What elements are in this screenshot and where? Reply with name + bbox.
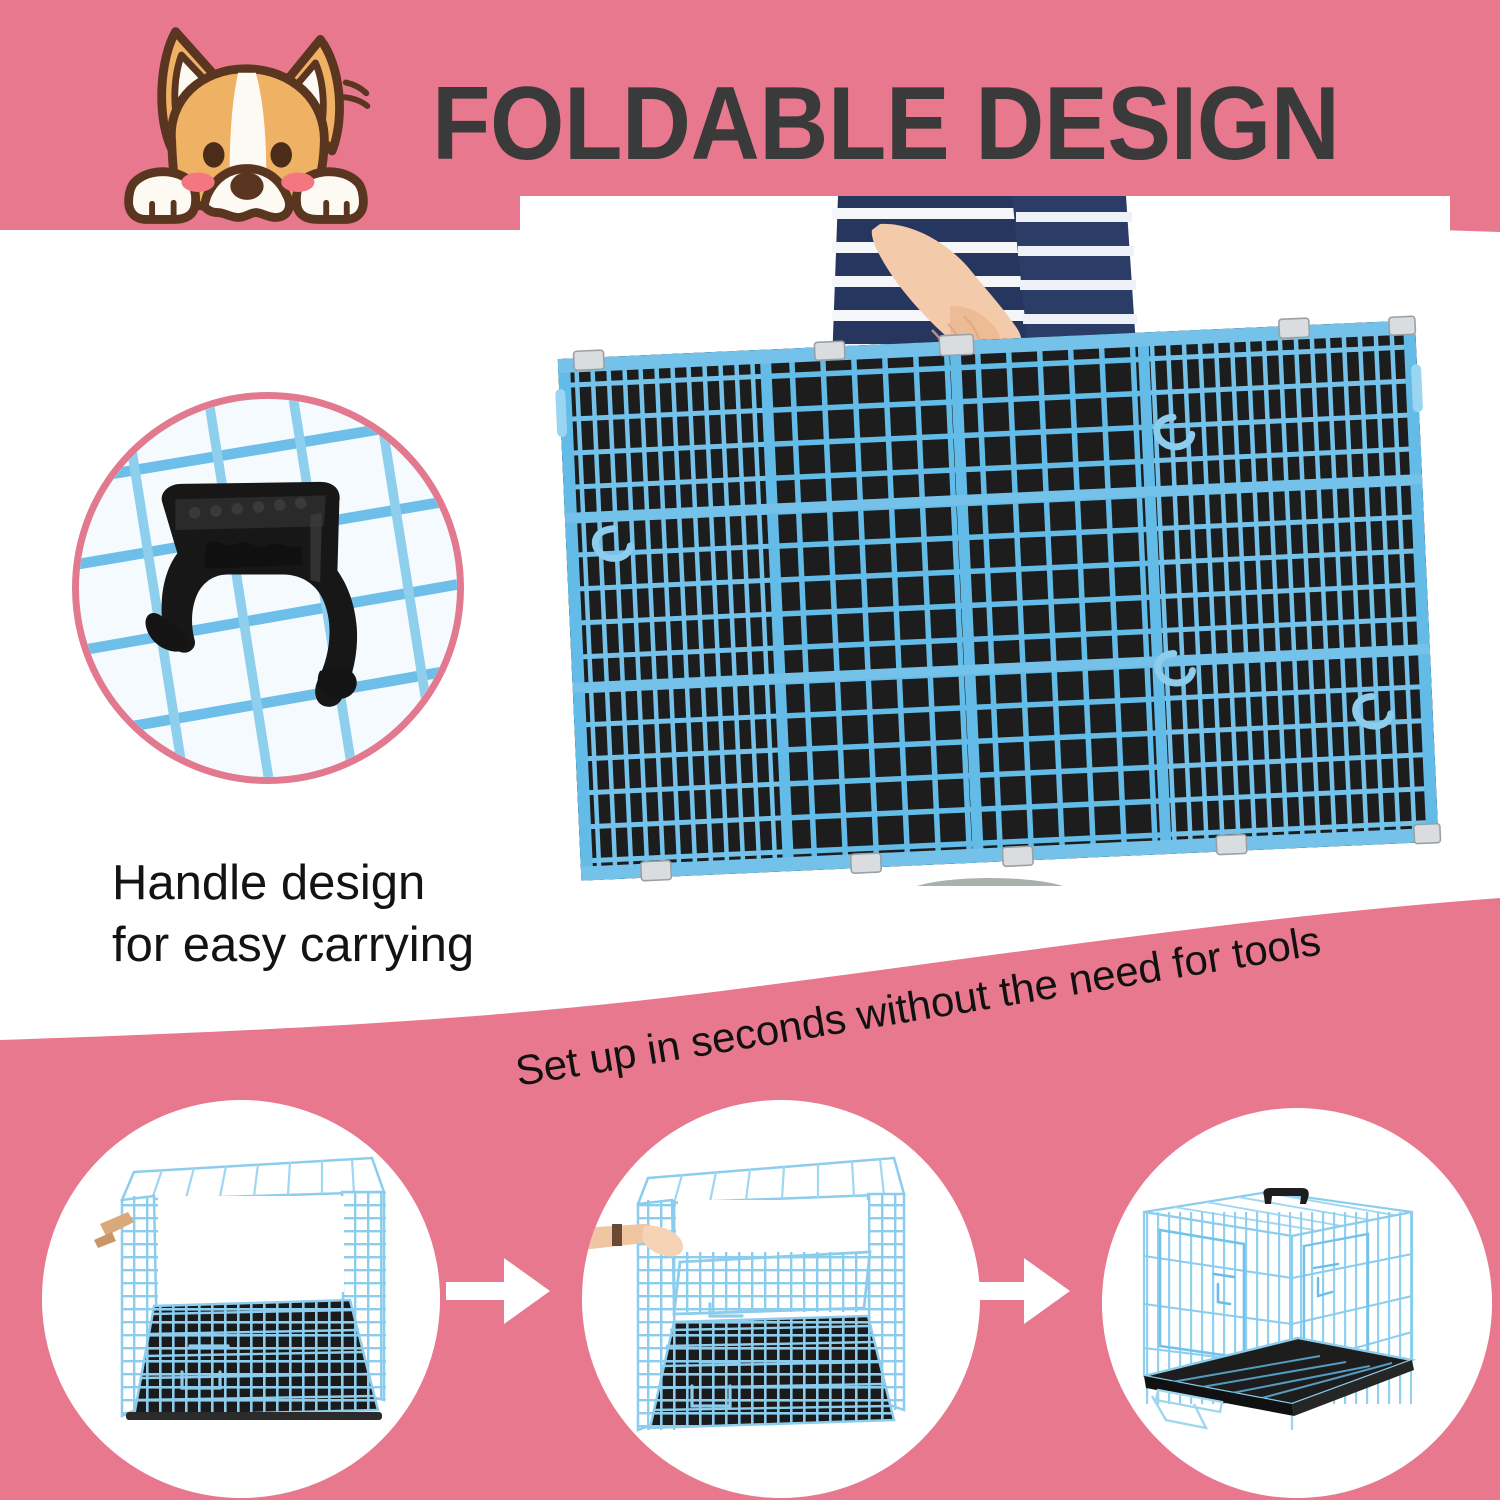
- step-3-svg: [1102, 1108, 1492, 1498]
- infographic-canvas: FOLDABLE DESIGN: [0, 0, 1500, 1500]
- step-3-assembled-crate: [1102, 1108, 1492, 1498]
- step-2-svg: [582, 1100, 980, 1498]
- handle-caption-line1: Handle design: [112, 852, 572, 914]
- right-eye: [270, 142, 292, 167]
- handle-caption-line2: for easy carrying: [112, 914, 572, 976]
- corgi-dog-logo-svg: [96, 14, 396, 239]
- next-step-arrow-icon: [966, 1248, 1070, 1334]
- corgi-dog-logo: [96, 14, 396, 239]
- next-step-arrow-icon: [446, 1248, 550, 1334]
- folded-crate-body: [553, 313, 1442, 886]
- handle-caption: Handle design for easy carrying: [112, 852, 572, 976]
- folded-crate-photo: [520, 196, 1450, 886]
- page-title: FOLDABLE DESIGN: [432, 62, 1288, 187]
- handle-closeup-svg: [79, 399, 457, 777]
- step-1-svg: [42, 1100, 440, 1498]
- step-2-raising-back-panel: [582, 1100, 980, 1498]
- left-eye: [203, 142, 225, 167]
- next-step-arrow: [446, 1248, 550, 1334]
- next-step-arrow: [966, 1248, 1070, 1334]
- handle-closeup-inset: [72, 392, 464, 784]
- step-1-unfolded-flat-crate: [42, 1100, 440, 1498]
- folded-crate-photo-svg: [520, 196, 1450, 886]
